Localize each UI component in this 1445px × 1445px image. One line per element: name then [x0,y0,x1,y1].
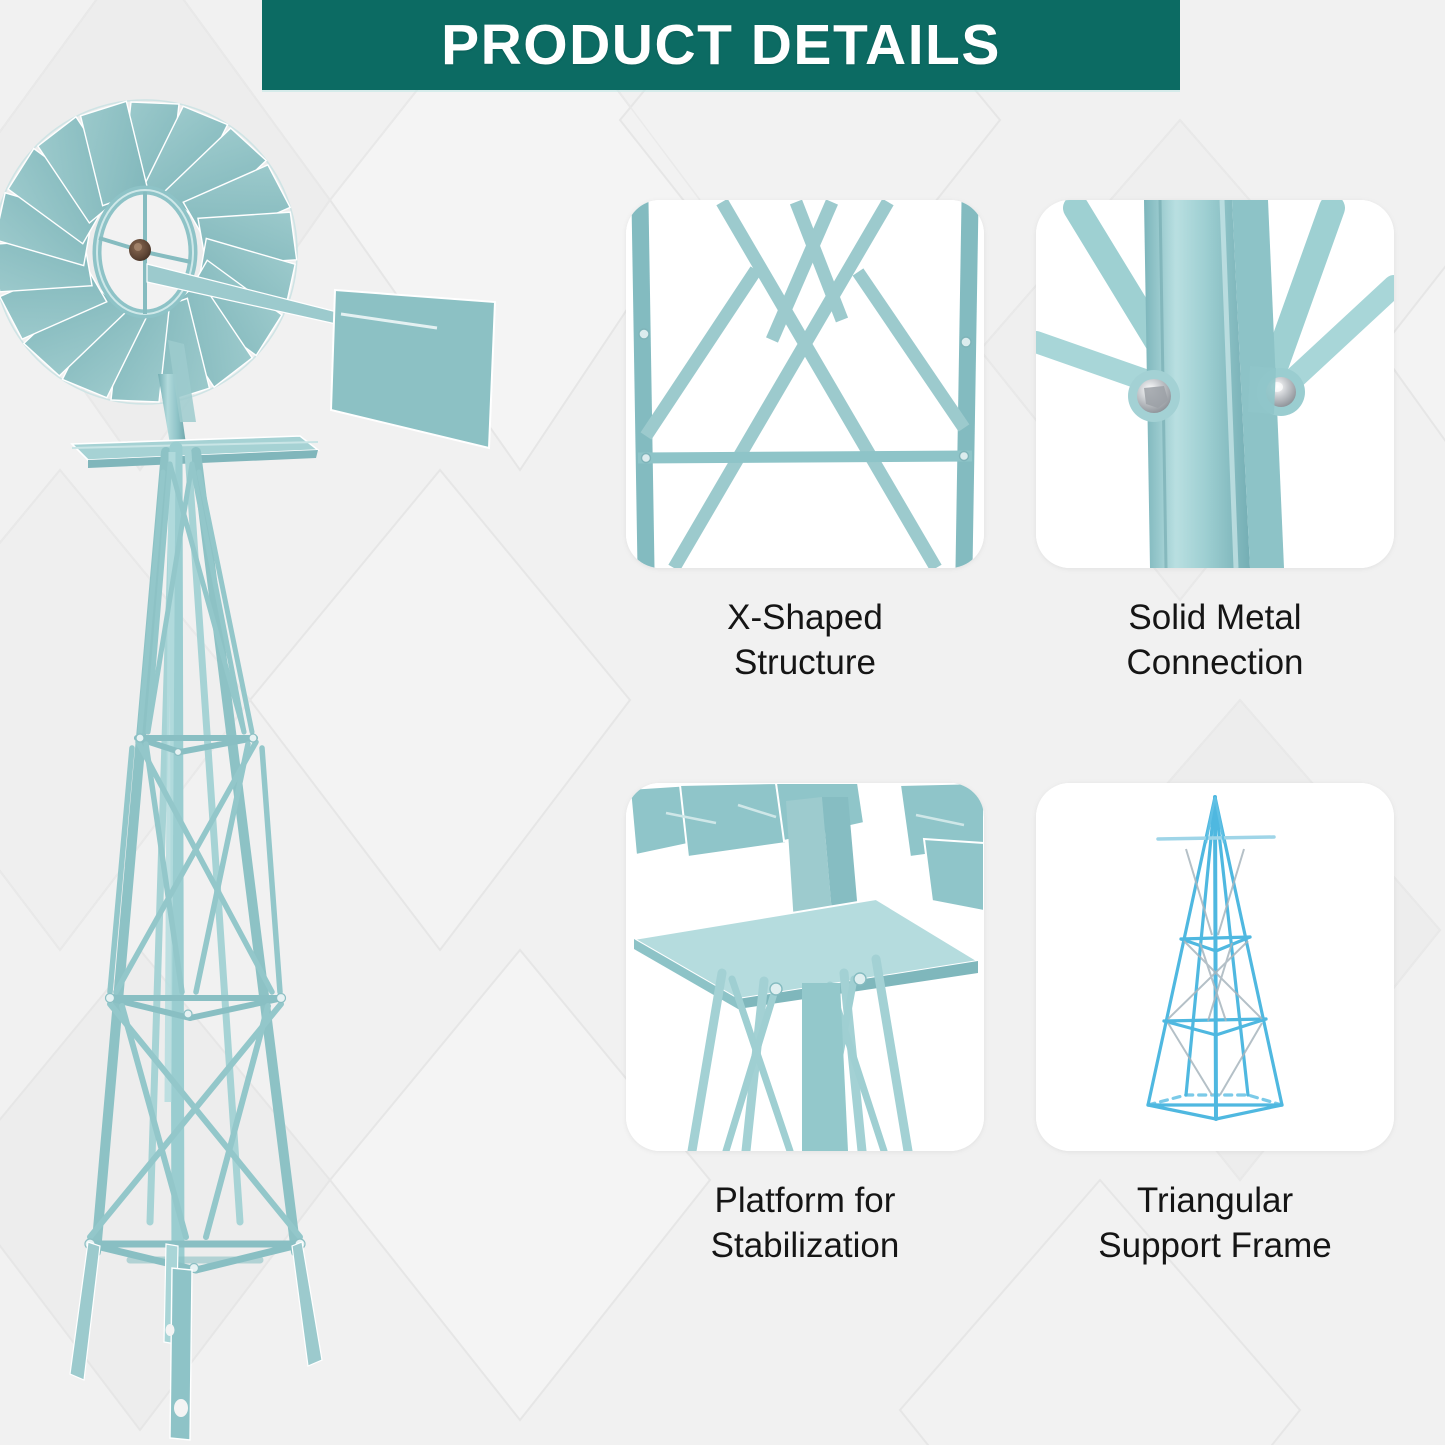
feature-card-x-shaped-structure[interactable] [626,200,984,568]
feature-caption-x-shaped-structure: X-Shaped Structure [727,596,883,686]
platform-plate-closeup-image [626,783,984,1151]
caption-line-1: Platform for [715,1181,896,1220]
page-title: PRODUCT DETAILS [441,17,1001,74]
caption-line-2: Support Frame [1098,1224,1331,1269]
caption-line-2: Stabilization [711,1224,900,1269]
feature-cell-platform-for-stabilization: Platform for Stabilization [620,783,990,1320]
header-banner: PRODUCT DETAILS [262,0,1180,90]
wireframe-pyramid-tower-image [1036,783,1394,1151]
feature-cell-solid-metal-connection: Solid Metal Connection [1030,200,1400,737]
lattice-tower [88,448,302,1272]
bolted-joint-closeup-image [1036,200,1394,568]
windmill-blade-wheel [0,99,495,448]
feature-grid: X-Shaped Structure [620,200,1430,1320]
feature-card-triangular-support-frame[interactable] [1036,783,1394,1151]
feature-caption-solid-metal-connection: Solid Metal Connection [1126,596,1303,686]
bolt-head-left [1128,370,1180,422]
feature-cell-x-shaped-structure: X-Shaped Structure [620,200,990,737]
feature-card-platform-for-stabilization[interactable] [626,783,984,1151]
windmill-illustration [0,92,615,1445]
feature-caption-triangular-support-frame: Triangular Support Frame [1098,1179,1331,1269]
feature-card-solid-metal-connection[interactable] [1036,200,1394,568]
feature-cell-triangular-support-frame: Triangular Support Frame [1030,783,1400,1320]
tail-fin [331,290,495,448]
caption-line-1: X-Shaped [727,598,883,637]
x-brace-closeup-image [626,200,984,568]
caption-line-2: Connection [1126,641,1303,686]
feature-caption-platform-for-stabilization: Platform for Stabilization [711,1179,900,1269]
caption-line-1: Solid Metal [1128,598,1301,637]
caption-line-2: Structure [727,641,883,686]
hero-product-image [0,92,615,1445]
caption-line-1: Triangular [1137,1181,1293,1220]
